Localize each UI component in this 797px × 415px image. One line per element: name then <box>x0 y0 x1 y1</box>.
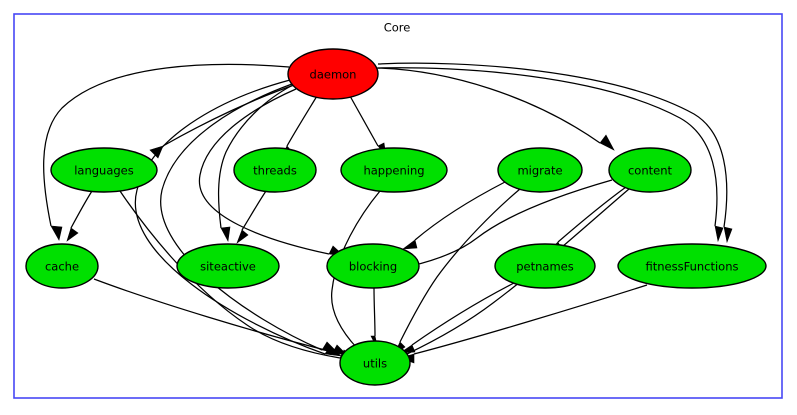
edge-arrowhead <box>715 226 723 241</box>
node-migrate[interactable]: migrate <box>498 148 582 192</box>
edge-line <box>558 187 626 242</box>
edge-arrowhead <box>51 226 62 240</box>
edge-line <box>242 191 266 230</box>
edge-line <box>287 96 317 146</box>
edge-fitness-to-utils <box>400 285 647 363</box>
node-threads[interactable]: threads <box>234 148 316 192</box>
edge-line <box>378 63 727 227</box>
edge-line <box>414 285 647 354</box>
node-content[interactable]: content <box>609 148 691 192</box>
edge-line <box>374 288 375 336</box>
graph-canvas: Core daemonlanguagesthreadshappeningmigr… <box>0 0 797 415</box>
node-shape-siteactive[interactable] <box>177 244 279 288</box>
edge-daemon-to-happening <box>350 96 386 156</box>
edge-arrowhead <box>237 230 248 243</box>
edge-line <box>377 68 600 143</box>
node-blocking[interactable]: blocking <box>327 244 419 288</box>
node-utils[interactable]: utils <box>340 341 410 385</box>
cluster-core: Core <box>14 14 782 398</box>
edge-line <box>350 96 378 146</box>
node-shape-fitnessFunctions[interactable] <box>618 244 766 288</box>
node-shape-languages[interactable] <box>51 148 157 192</box>
node-shape-happening[interactable] <box>341 148 447 192</box>
edge-arrowhead <box>724 227 732 242</box>
node-shape-content[interactable] <box>609 148 691 192</box>
node-shape-threads[interactable] <box>234 148 316 192</box>
edge-languages-to-cache <box>67 191 92 241</box>
node-shape-cache[interactable] <box>26 244 98 288</box>
edge-migrate-to-blocking <box>403 182 505 249</box>
edge-arrowhead <box>600 135 614 150</box>
edge-line <box>415 182 505 240</box>
edge-arrowhead <box>403 240 417 249</box>
node-shape-utils[interactable] <box>340 341 410 385</box>
edge-arrowhead <box>221 227 230 241</box>
node-languages[interactable]: languages <box>51 148 157 192</box>
edge-daemon-to-utils-b <box>135 80 341 356</box>
node-happening[interactable]: happening <box>341 148 447 192</box>
node-shape-blocking[interactable] <box>327 244 419 288</box>
node-daemon[interactable]: daemon <box>288 49 378 99</box>
edge-daemon-to-content <box>377 68 614 150</box>
edges-layer <box>44 63 732 363</box>
cluster-title: Core <box>384 21 411 35</box>
edge-line <box>44 64 289 226</box>
node-shape-daemon[interactable] <box>288 49 378 99</box>
edge-line <box>71 191 92 228</box>
edge-arrowhead <box>67 228 78 241</box>
edge-line <box>378 68 717 226</box>
node-shape-petnames[interactable] <box>495 244 595 288</box>
edge-line <box>94 279 333 352</box>
node-petnames[interactable]: petnames <box>495 244 595 288</box>
node-shape-migrate[interactable] <box>498 148 582 192</box>
node-cache[interactable]: cache <box>26 244 98 288</box>
node-siteactive[interactable]: siteactive <box>177 244 279 288</box>
cluster-border <box>14 14 782 398</box>
node-fitnessFunctions[interactable]: fitnessFunctions <box>618 244 766 288</box>
